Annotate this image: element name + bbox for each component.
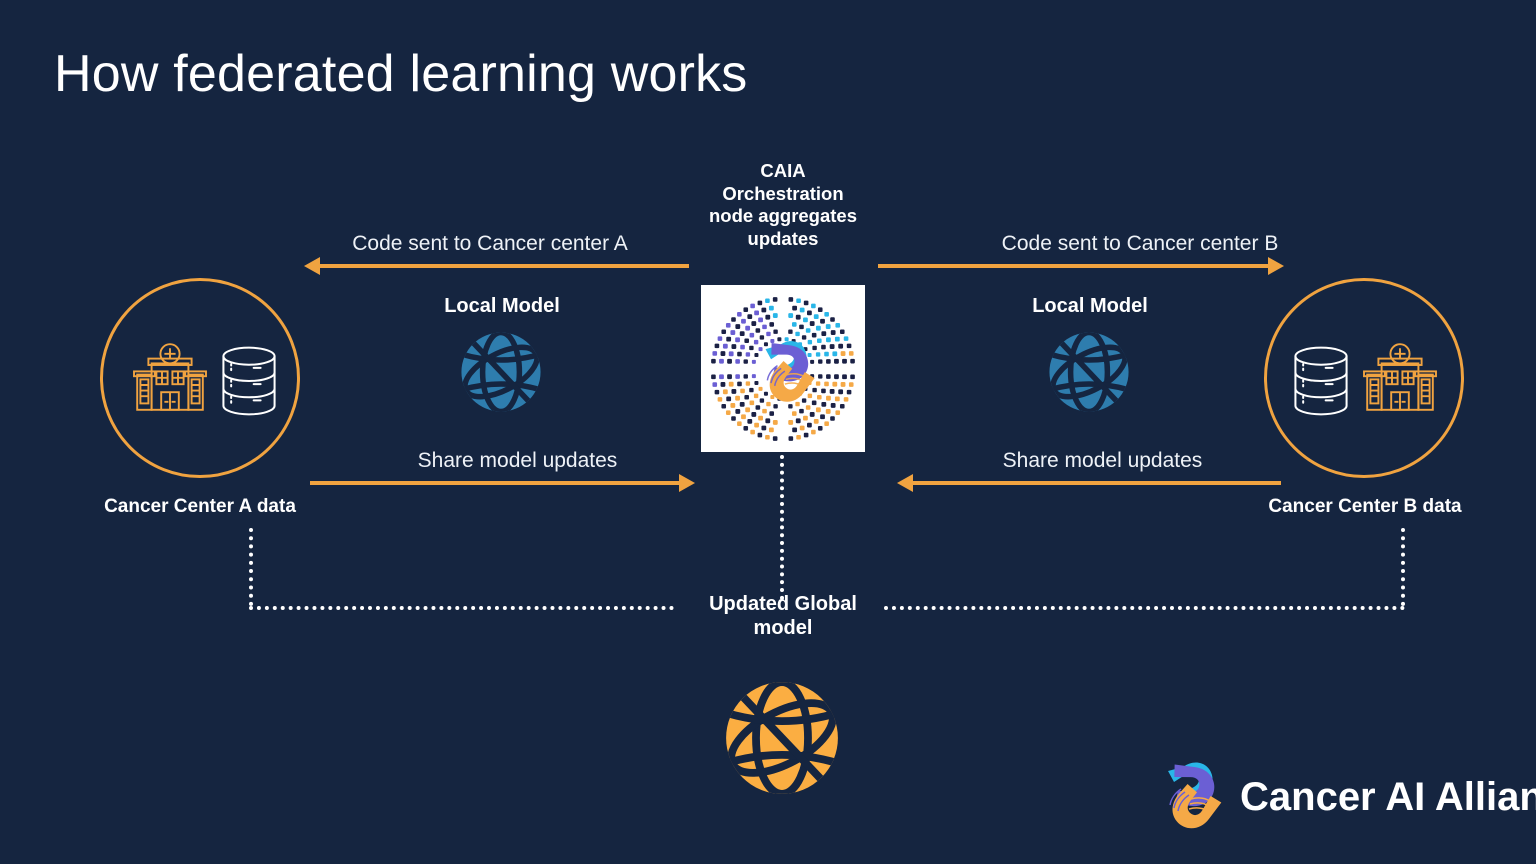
right-local-model-globe-icon — [1043, 326, 1135, 418]
dotted-line-center-vertical — [780, 455, 784, 600]
left-bottom-arrow-line — [310, 481, 679, 485]
right-top-arrow-head — [1268, 257, 1284, 275]
caia-caption-line-1: CAIA — [672, 160, 894, 183]
cancer-center-a-icons — [103, 281, 303, 481]
global-label-line-2: model — [676, 616, 890, 640]
database-icon — [218, 343, 280, 419]
caia-node-caption: CAIA Orchestration node aggregates updat… — [672, 160, 894, 250]
brand-lockup: Cancer AI Alliance — [1148, 758, 1536, 836]
cancer-center-a-label: Cancer Center A data — [60, 495, 340, 518]
left-local-model-label: Local Model — [402, 294, 602, 318]
right-top-arrow-label: Code sent to Cancer center B — [975, 232, 1305, 256]
cancer-center-b-icons — [1267, 281, 1467, 481]
caia-caption-line-2: Orchestration — [672, 183, 894, 206]
cancer-ai-alliance-logo-icon — [1148, 758, 1226, 836]
dotted-line-left-vertical — [249, 528, 253, 606]
caia-caption-line-4: updates — [672, 228, 894, 251]
left-local-model-globe-icon — [455, 326, 547, 418]
dotted-line-right-vertical — [1401, 528, 1405, 606]
caia-caption-line-3: node aggregates — [672, 205, 894, 228]
right-bottom-arrow-head — [897, 474, 913, 492]
right-bottom-arrow-line — [913, 481, 1281, 485]
left-top-arrow-line — [320, 264, 689, 268]
caia-logo — [701, 285, 865, 452]
global-model-globe-icon — [717, 673, 847, 803]
hospital-icon — [1356, 341, 1444, 421]
left-bottom-arrow-label: Share model updates — [360, 449, 675, 473]
dotted-line-right-horizontal — [884, 606, 1405, 610]
cancer-center-b-label: Cancer Center B data — [1225, 495, 1505, 518]
updated-global-model-label: Updated Global model — [676, 592, 890, 641]
left-bottom-arrow-head — [679, 474, 695, 492]
page-title: How federated learning works — [54, 44, 748, 104]
right-bottom-arrow-label: Share model updates — [945, 449, 1260, 473]
cancer-center-a-circle — [100, 278, 300, 478]
brand-name: Cancer AI Alliance — [1240, 775, 1536, 820]
dotted-line-left-horizontal — [249, 606, 674, 610]
left-top-arrow-label: Code sent to Cancer center A — [330, 232, 650, 256]
right-local-model-label: Local Model — [990, 294, 1190, 318]
left-top-arrow-head — [304, 257, 320, 275]
database-icon — [1290, 343, 1352, 419]
right-top-arrow-line — [878, 264, 1268, 268]
slide-canvas: How federated learning works CAIA Orches… — [0, 0, 1536, 864]
global-label-line-1: Updated Global — [676, 592, 890, 616]
hospital-icon — [126, 341, 214, 421]
caia-orchestration-node[interactable] — [701, 285, 865, 452]
cancer-center-b-circle — [1264, 278, 1464, 478]
